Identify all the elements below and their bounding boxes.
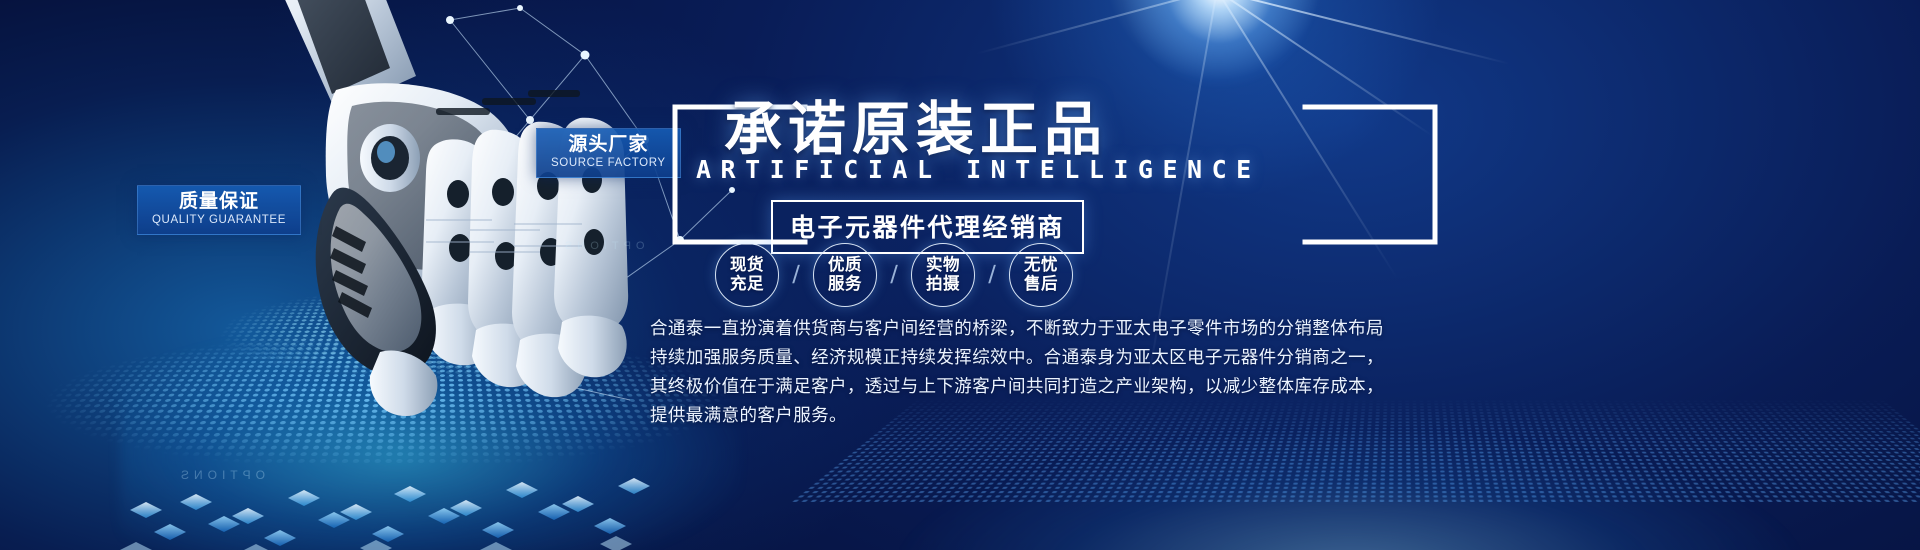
- tag-quality-en: QUALITY GUARANTEE: [152, 213, 286, 228]
- badge-separator: /: [974, 261, 1009, 290]
- promo-banner: OPTIONS OPTIONS 质量保证 QUALITY GUARANTEE 源…: [0, 0, 1920, 550]
- isometric-block-floor-icon: [120, 440, 680, 550]
- badge-quality-service: 优质 服务: [813, 243, 877, 307]
- headline-english: ARTIFICIAL INTELLIGENCE: [696, 155, 1261, 184]
- description-line-4: 提供最满意的客户服务。: [650, 401, 1810, 430]
- badge-quality-service-line2: 服务: [828, 275, 862, 294]
- description-line-2: 持续加强服务质量、经济规模正持续发挥综效中。合通泰身为亚太区电子元器件分销商之一…: [650, 343, 1810, 372]
- badge-after-sales-line1: 无忧: [1024, 256, 1058, 275]
- badge-real-photos-line1: 实物: [926, 256, 960, 275]
- description-line-1: 合通泰一直扮演着供货商与客户间经营的桥梁，不断致力于亚太电子零件市场的分销整体布…: [650, 314, 1810, 343]
- banner-content: 承诺原装正品 ARTIFICIAL INTELLIGENCE 电子元器件代理经销…: [648, 0, 1918, 550]
- badge-real-photos-line2: 拍摄: [926, 275, 960, 294]
- badge-real-photos: 实物 拍摄: [911, 243, 975, 307]
- badge-separator: /: [778, 261, 813, 290]
- description-paragraph: 合通泰一直扮演着供货商与客户间经营的桥梁，不断致力于亚太电子零件市场的分销整体布…: [650, 314, 1810, 430]
- feature-badges: 现货 充足 / 优质 服务 / 实物 拍摄 / 无忧 售后: [715, 243, 1073, 307]
- headline-main: 承诺原装正品: [724, 82, 1108, 166]
- badge-after-sales-line2: 售后: [1024, 275, 1058, 294]
- watermark-text: OPTIONS: [176, 468, 265, 482]
- badge-in-stock: 现货 充足: [715, 243, 779, 307]
- badge-separator: /: [876, 261, 911, 290]
- badge-after-sales: 无忧 售后: [1009, 243, 1073, 307]
- description-line-3: 其终极价值在于满足客户，透过与上下游客户间共同打造之产业架构，以减少整体库存成本…: [650, 372, 1810, 401]
- tag-quality-guarantee: 质量保证 QUALITY GUARANTEE: [137, 185, 301, 235]
- robotic-hand-icon: [240, 0, 660, 450]
- tag-quality-cn: 质量保证: [152, 191, 286, 213]
- badge-in-stock-line2: 充足: [730, 275, 764, 294]
- badge-quality-service-line1: 优质: [828, 256, 862, 275]
- cyan-glow: [120, 330, 740, 550]
- watermark-text-2: OPTIONS: [560, 240, 645, 252]
- badge-in-stock-line1: 现货: [730, 256, 764, 275]
